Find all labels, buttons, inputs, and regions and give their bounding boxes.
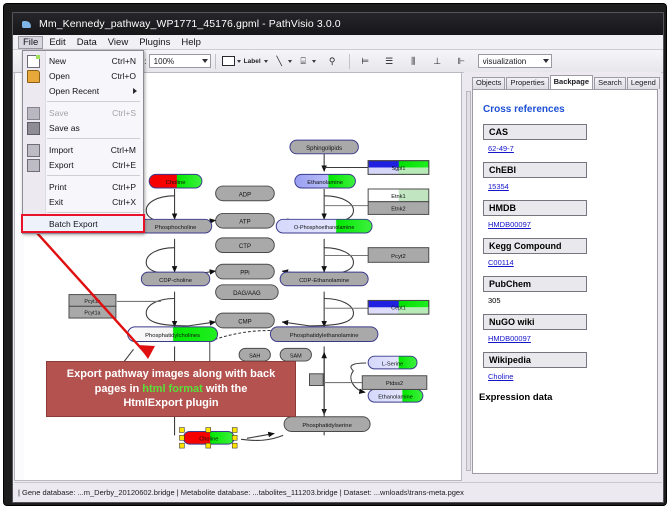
gene-pcyt2[interactable]: Pcyt2	[368, 248, 429, 263]
node-ethanolamine-right[interactable]: Ethanolamine	[368, 389, 423, 402]
xref-block-wikipedia: Wikipedia Choline	[483, 352, 657, 381]
menu-separator	[47, 212, 140, 213]
annotation-callout: Export pathway images along with back pa…	[46, 361, 296, 417]
label-dropdown-icon[interactable]	[264, 60, 268, 63]
backpage-heading: Cross references	[483, 104, 657, 115]
zoom-value: 100%	[154, 57, 202, 66]
xref-value-hmdb[interactable]: HMDB00097	[488, 220, 657, 229]
menu-item-open-recent-label: Open Recent	[49, 86, 99, 96]
svg-text:Pcyt1a: Pcyt1a	[84, 311, 100, 317]
anchor-tool-icon[interactable]: ⚲	[325, 54, 340, 69]
xref-source-cas: CAS	[483, 124, 587, 140]
svg-text:CMP: CMP	[238, 319, 251, 325]
callout-line2-b: with the	[203, 383, 248, 395]
xref-value-wikipedia[interactable]: Choline	[488, 372, 657, 381]
gene-cept1[interactable]: Cept1	[368, 300, 429, 314]
node-phosphatidylserine[interactable]: Phosphatidylserine	[284, 417, 370, 432]
application-window: Mm_Kennedy_pathway_WP1771_45176.gpml - P…	[12, 12, 664, 503]
node-atp[interactable]: ATP	[216, 213, 275, 228]
visualization-combo[interactable]: visualization	[478, 54, 552, 68]
callout-line2-a: pages in	[95, 383, 143, 395]
callout-line2-highlight: html format	[142, 383, 203, 395]
backpage-panel[interactable]: Cross references CAS 62-49-7 ChEBI 15354…	[472, 89, 658, 474]
svg-text:Phosphatidylserine: Phosphatidylserine	[302, 423, 352, 429]
gene-pcyt1b[interactable]: Pcyt1b	[69, 295, 116, 307]
gene-ptdss2[interactable]: Ptdss2	[362, 376, 427, 390]
node-choline-selected[interactable]: Choline	[179, 428, 237, 449]
svg-text:Etnk2: Etnk2	[391, 207, 405, 213]
svg-text:Ptdss2: Ptdss2	[386, 381, 403, 387]
menu-item-open-label: Open	[49, 71, 70, 81]
anchor-box-pemt	[309, 374, 323, 386]
menu-separator	[47, 175, 140, 176]
menu-item-new-accel: Ctrl+N	[112, 56, 136, 66]
tab-backpage[interactable]: Backpage	[550, 75, 593, 89]
menu-item-print-accel: Ctrl+P	[112, 182, 136, 192]
xref-block-hmdb: HMDB HMDB00097	[483, 200, 657, 229]
svg-text:ADP: ADP	[239, 192, 251, 198]
menu-item-save-label: Save	[49, 108, 68, 118]
svg-text:Pcyt2: Pcyt2	[391, 254, 406, 260]
callout-line1: Export pathway images along with back	[67, 368, 275, 380]
line-tool-icon[interactable]: ╲	[272, 54, 287, 69]
menu-edit[interactable]: Edit	[44, 36, 70, 49]
callout-line3: HtmlExport plugin	[123, 397, 218, 409]
tab-properties[interactable]: Properties	[506, 77, 548, 89]
menu-item-save-as[interactable]: Save as	[23, 120, 143, 135]
menu-bar: File Edit Data View Plugins Help	[13, 35, 663, 50]
svg-text:CDP-Ethanolamine: CDP-Ethanolamine	[299, 278, 349, 284]
node-o-phosphoethanolamine[interactable]: O-Phosphoethanolamine	[276, 219, 372, 233]
svg-text:Phosphocholine: Phosphocholine	[155, 225, 197, 231]
node-sam[interactable]: SAM	[280, 348, 311, 361]
svg-text:CTP: CTP	[239, 244, 251, 250]
chevron-down-icon	[543, 59, 549, 63]
node-adp[interactable]: ADP	[216, 186, 275, 201]
sidebar-tabs: Objects Properties Backpage Search Legen…	[472, 75, 658, 89]
xref-value-nugo[interactable]: HMDB00097	[488, 334, 657, 343]
import-icon	[27, 144, 40, 157]
svg-text:Sphingolipids: Sphingolipids	[306, 146, 342, 152]
pathvisio-icon	[21, 18, 33, 30]
menu-item-exit[interactable]: Exit Ctrl+X	[23, 194, 143, 209]
label-tool-label[interactable]: Label	[244, 58, 261, 65]
gene-etnk1[interactable]: Etnk1	[368, 189, 429, 202]
open-folder-icon	[27, 70, 40, 83]
node-phosphatidylethanolamine[interactable]: Phosphatidylethanolamine	[270, 327, 378, 342]
svg-text:Choline: Choline	[199, 437, 218, 443]
order-icon[interactable]: ⊩	[454, 54, 469, 69]
svg-text:Etnk1: Etnk1	[391, 194, 405, 200]
window-title: Mm_Kennedy_pathway_WP1771_45176.gpml - P…	[39, 18, 341, 30]
menu-item-export-label: Export	[49, 160, 74, 170]
node-ppi[interactable]: PPi	[216, 264, 275, 279]
menu-data[interactable]: Data	[72, 36, 102, 49]
svg-text:Cept1: Cept1	[391, 306, 406, 312]
align-rows-icon[interactable]: ☰	[382, 54, 397, 69]
file-menu-popup[interactable]: New Ctrl+N Open Ctrl+O Open Recent Save …	[22, 50, 144, 234]
expression-data-heading: Expression data	[479, 392, 657, 403]
xref-source-nugo: NuGO wiki	[483, 314, 587, 330]
tab-legend[interactable]: Legend	[627, 77, 660, 89]
xref-block-kegg: Kegg Compound C00114	[483, 238, 657, 267]
svg-text:L-Serine: L-Serine	[382, 361, 403, 367]
xref-block-chebi: ChEBI 15354	[483, 162, 657, 191]
menu-separator	[47, 101, 140, 102]
menu-item-export[interactable]: Export Ctrl+E	[23, 157, 143, 172]
xref-source-wikipedia: Wikipedia	[483, 352, 587, 368]
node-cmp[interactable]: CMP	[216, 313, 275, 328]
menu-item-import-label: Import	[49, 145, 73, 155]
datanode-dropdown-icon[interactable]	[237, 60, 241, 63]
xref-block-cas: CAS 62-49-7	[483, 124, 657, 153]
menu-item-new[interactable]: New Ctrl+N	[23, 53, 143, 68]
node-phosphatidylcholines[interactable]: Phosphatidylcholines	[128, 327, 218, 342]
shape-tool-icon[interactable]: ⌸	[296, 54, 311, 69]
menu-item-batch-export-label: Batch Export	[49, 219, 98, 229]
node-ctp[interactable]: CTP	[216, 238, 275, 253]
svg-text:Ethanolamine: Ethanolamine	[307, 180, 343, 186]
menu-item-print[interactable]: Print Ctrl+P	[23, 179, 143, 194]
xref-block-pubchem: PubChem 305	[483, 276, 657, 305]
align-left-icon[interactable]: ⊨	[358, 54, 373, 69]
menu-help[interactable]: Help	[176, 36, 206, 49]
title-bar: Mm_Kennedy_pathway_WP1771_45176.gpml - P…	[13, 13, 663, 35]
sidebar-splitter[interactable]	[466, 91, 471, 471]
menu-view[interactable]: View	[103, 36, 133, 49]
xref-value-cas[interactable]: 62-49-7	[488, 144, 657, 153]
menu-item-open[interactable]: Open Ctrl+O	[23, 68, 143, 83]
xref-source-hmdb: HMDB	[483, 200, 587, 216]
menu-item-batch-export[interactable]: Batch Export	[23, 216, 143, 231]
svg-text:Phosphatidylethanolamine: Phosphatidylethanolamine	[290, 333, 359, 339]
xref-value-pubchem: 305	[488, 296, 657, 305]
tab-search[interactable]: Search	[594, 77, 626, 89]
node-phosphocholine[interactable]: Phosphocholine	[139, 219, 211, 233]
status-text: | Gene database: ...m_Derby_20120602.bri…	[14, 488, 464, 497]
menu-item-exit-accel: Ctrl+X	[112, 197, 136, 207]
svg-text:SAM: SAM	[290, 354, 302, 360]
menu-item-export-accel: Ctrl+E	[112, 160, 136, 170]
node-choline[interactable]: Choline	[149, 174, 202, 188]
status-bar: | Gene database: ...m_Derby_20120602.bri…	[14, 482, 662, 502]
submenu-arrow-icon	[133, 88, 137, 94]
svg-text:ATP: ATP	[239, 220, 250, 226]
node-cdp-ethanolamine[interactable]: CDP-Ethanolamine	[280, 272, 368, 286]
menu-item-open-recent[interactable]: Open Recent	[23, 83, 143, 98]
chevron-down-icon	[202, 59, 208, 63]
node-l-serine[interactable]: L-Serine	[368, 356, 417, 369]
xref-source-pubchem: PubChem	[483, 276, 587, 292]
menu-item-save-accel: Ctrl+S	[112, 108, 136, 118]
shape-dropdown-icon[interactable]	[312, 60, 316, 63]
gene-sgpl1[interactable]: Sgpl1	[368, 161, 429, 175]
tab-objects[interactable]: Objects	[472, 77, 505, 89]
xref-source-kegg: Kegg Compound	[483, 238, 587, 254]
svg-text:Ethanolamine: Ethanolamine	[378, 395, 413, 401]
sidebar: Objects Properties Backpage Search Legen…	[464, 72, 661, 481]
visualization-value: visualization	[483, 57, 543, 66]
menu-item-new-label: New	[49, 56, 66, 66]
svg-text:SAH: SAH	[249, 354, 260, 360]
export-icon	[27, 159, 40, 172]
datanode-tool-icon[interactable]	[221, 54, 236, 69]
menu-item-exit-label: Exit	[49, 197, 63, 207]
menu-file[interactable]: File	[18, 36, 43, 49]
save-icon	[27, 107, 40, 120]
new-file-icon	[27, 55, 40, 68]
gene-etnk2[interactable]: Etnk2	[368, 202, 429, 215]
svg-text:Pcyt1b: Pcyt1b	[84, 299, 100, 305]
xref-source-chebi: ChEBI	[483, 162, 587, 178]
xref-block-nugo: NuGO wiki HMDB00097	[483, 314, 657, 343]
node-cdp-choline[interactable]: CDP-choline	[141, 272, 209, 286]
node-sphingolipids[interactable]: Sphingolipids	[290, 140, 358, 154]
zoom-combo[interactable]: 100%	[149, 54, 211, 68]
svg-text:CDP-choline: CDP-choline	[159, 278, 192, 284]
svg-text:PPi: PPi	[240, 271, 249, 277]
save-as-icon	[27, 122, 40, 135]
menu-plugins[interactable]: Plugins	[134, 36, 175, 49]
app-root: Mm_Kennedy_pathway_WP1771_45176.gpml - P…	[0, 0, 670, 509]
svg-text:Sgpl1: Sgpl1	[391, 166, 405, 172]
stack-icon[interactable]: ⊥	[430, 54, 445, 69]
svg-text:DAG/AAG: DAG/AAG	[233, 291, 261, 297]
svg-text:Choline: Choline	[166, 180, 186, 186]
menu-separator	[47, 138, 140, 139]
svg-text:O-Phosphoethanolamine: O-Phosphoethanolamine	[294, 225, 355, 231]
menu-item-open-accel: Ctrl+O	[111, 71, 136, 81]
toolbar-separator	[215, 54, 216, 69]
node-ethanolamine-top[interactable]: Ethanolamine	[295, 174, 356, 188]
node-dag-aag[interactable]: DAG/AAG	[216, 285, 279, 300]
menu-item-import-accel: Ctrl+M	[111, 145, 136, 155]
menu-item-print-label: Print	[49, 182, 66, 192]
menu-item-save: Save Ctrl+S	[23, 105, 143, 120]
xref-value-chebi[interactable]: 15354	[488, 182, 657, 191]
gene-pcyt1a[interactable]: Pcyt1a	[69, 306, 116, 318]
menu-item-import[interactable]: Import Ctrl+M	[23, 142, 143, 157]
menu-item-save-as-label: Save as	[49, 123, 80, 133]
window-outer-frame: Mm_Kennedy_pathway_WP1771_45176.gpml - P…	[4, 4, 666, 505]
node-sah[interactable]: SAH	[239, 348, 270, 361]
line-dropdown-icon[interactable]	[288, 60, 292, 63]
align-columns-icon[interactable]: ⫼	[406, 54, 421, 69]
svg-text:Phosphatidylcholines: Phosphatidylcholines	[145, 333, 200, 339]
xref-value-kegg[interactable]: C00114	[488, 258, 657, 267]
